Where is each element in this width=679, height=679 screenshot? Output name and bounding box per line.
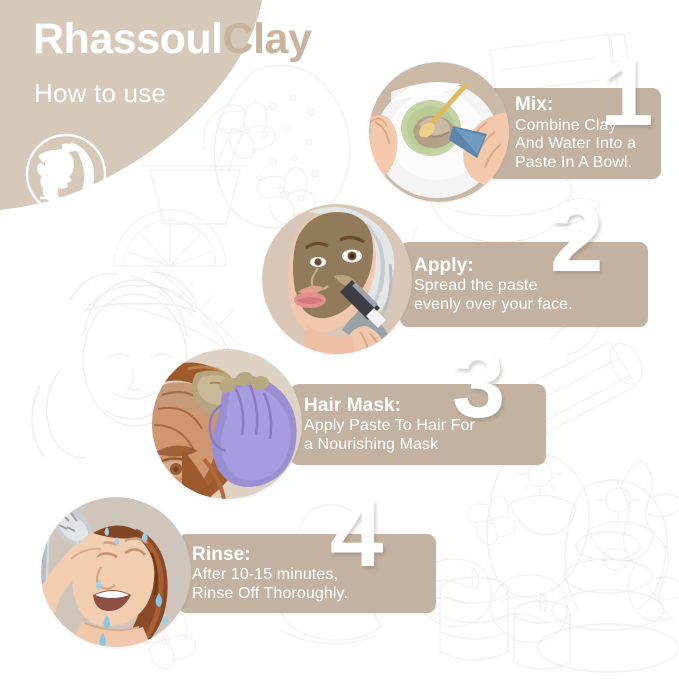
- step-1-number: 1: [600, 54, 653, 133]
- step-4-body: After 10-15 minutes, Rinse Off Thoroughl…: [192, 566, 422, 603]
- step-3-label-box: Hair Mask: Apply Paste To Hair For a Nou…: [290, 384, 546, 465]
- step-4-title: Rinse:: [192, 544, 422, 565]
- page-subtitle: How to use: [34, 78, 166, 109]
- candles-watermark: [430, 560, 600, 679]
- plumeria-flower-watermark: [210, 95, 280, 165]
- lemon-slice-watermark: [100, 170, 240, 290]
- step-4-number: 4: [330, 495, 383, 574]
- woman-profile-leaf-logo: [24, 132, 108, 216]
- step-2-photo: [262, 204, 412, 354]
- step-1-photo: [369, 62, 509, 202]
- infographic-canvas: RhassoulClay How to use: [0, 0, 679, 679]
- stacked-stones-watermark: [520, 530, 679, 679]
- step-4-photo: [41, 497, 191, 647]
- title-word-2: Clay: [223, 15, 312, 63]
- step-4-label-box: Rinse: After 10-15 minutes, Rinse Off Th…: [178, 534, 436, 613]
- plumeria-flower-watermark: [460, 490, 520, 550]
- step-2-number: 2: [550, 200, 603, 279]
- mortar-and-pestle-watermark: [120, 110, 270, 260]
- step-3-number: 3: [452, 346, 505, 425]
- title-word-1: Rhassoul: [33, 15, 223, 63]
- step-2-label-box: Apply: Spread the paste evenly over your…: [400, 242, 648, 327]
- page-title: RhassoulClay: [33, 18, 311, 61]
- ginger-root-watermark: [600, 450, 679, 650]
- step-3-photo: [152, 349, 302, 499]
